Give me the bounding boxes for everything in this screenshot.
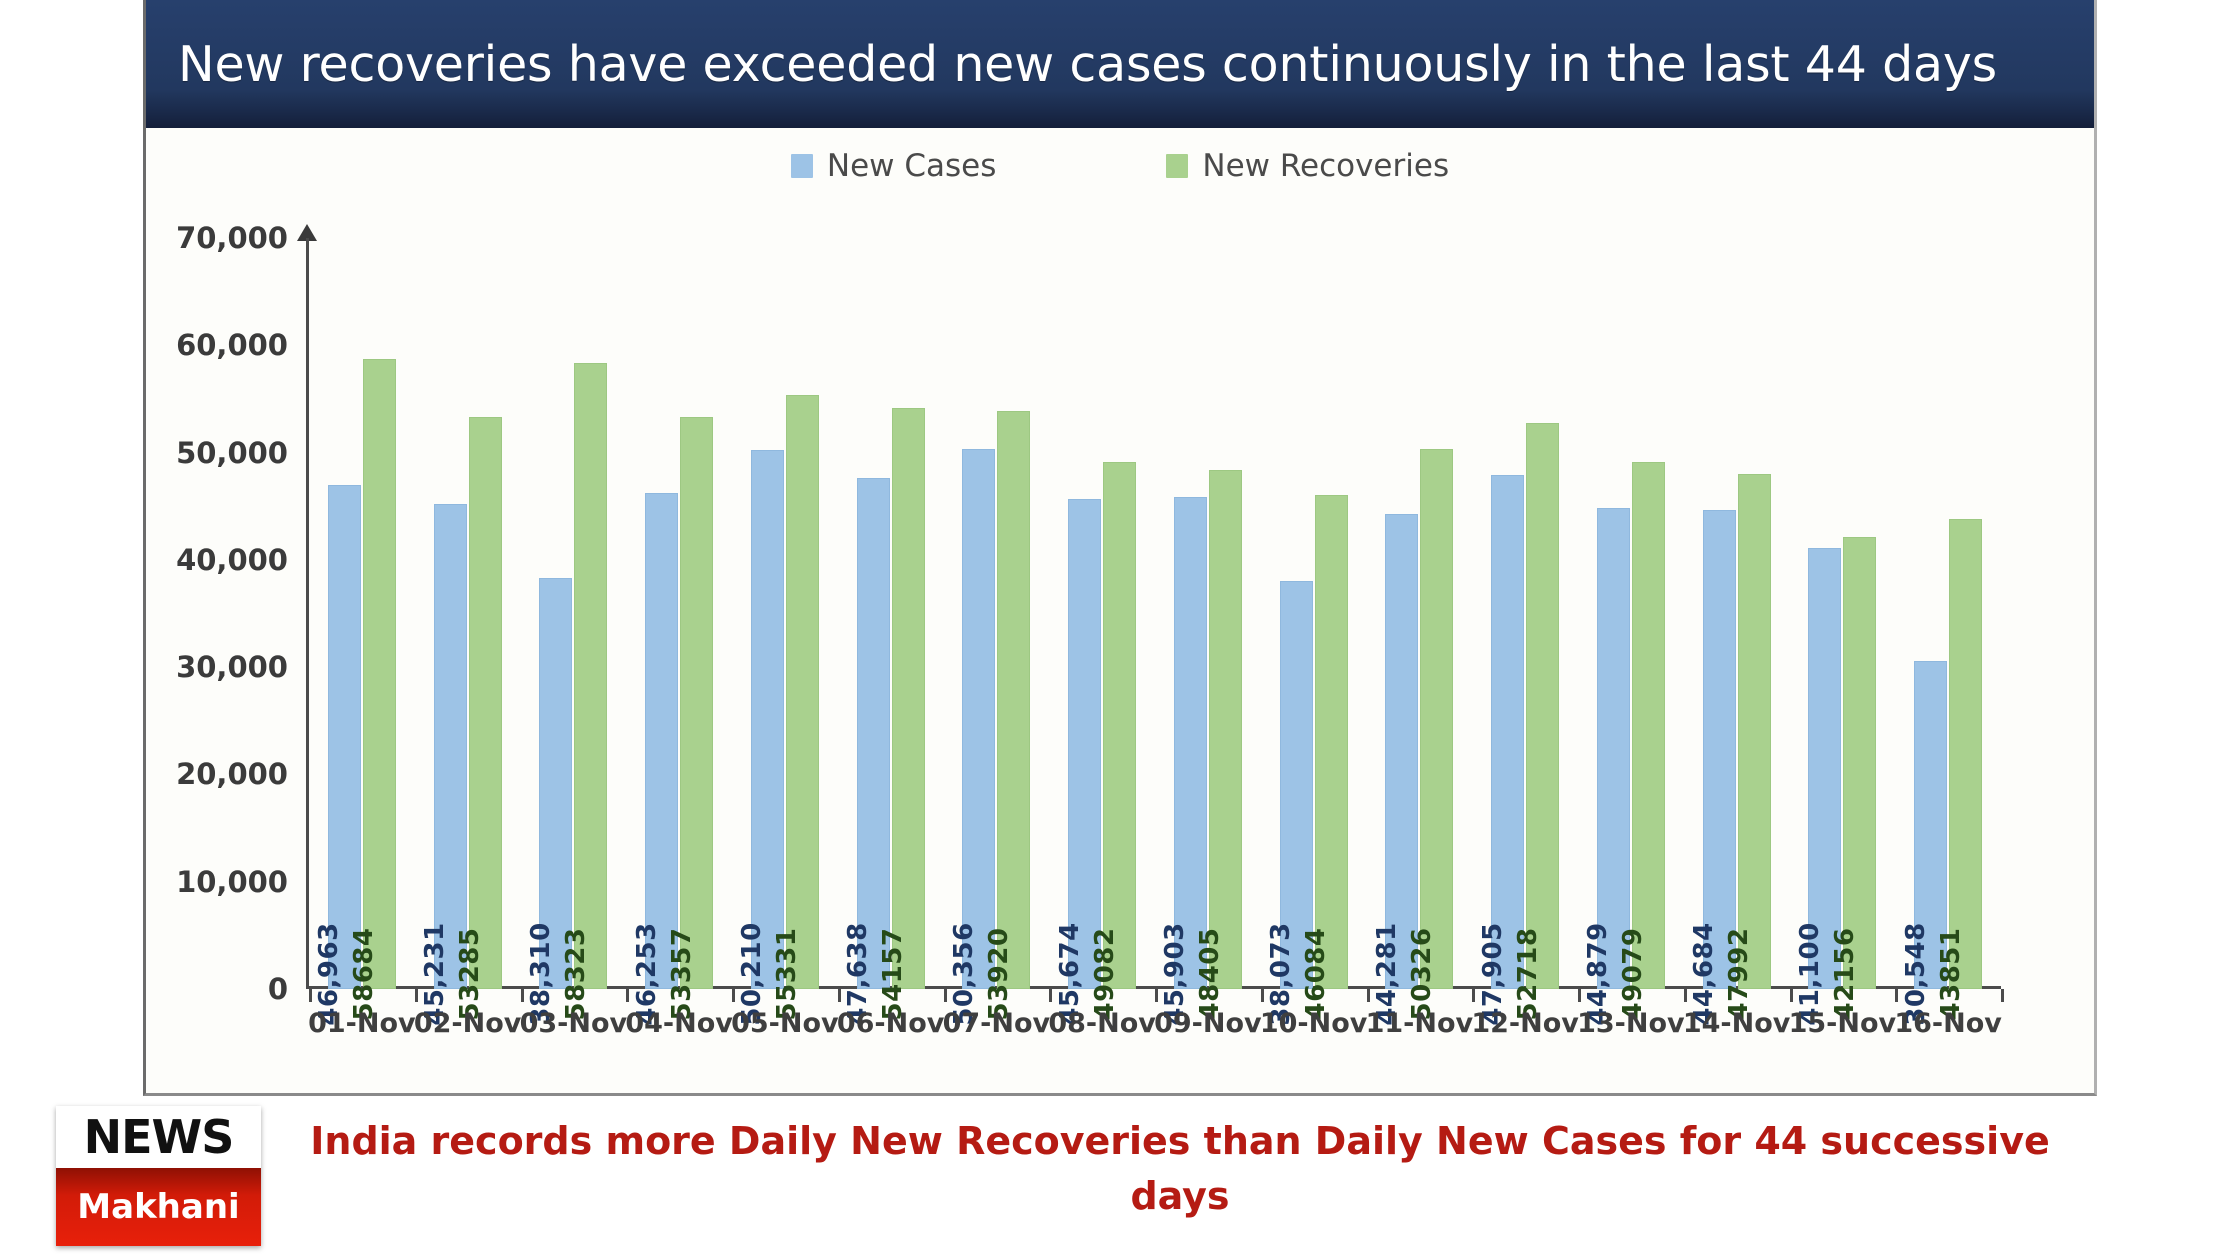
x-axis-tick-label: 12-Nov [1471, 1008, 1579, 1039]
bar-new-cases[interactable]: 44,281 [1385, 514, 1418, 989]
chart-title-banner: New recoveries have exceeded new cases c… [146, 0, 2094, 128]
bar-group: 50,35653920 [962, 238, 1030, 989]
bar-value-label: 50326 [1407, 928, 1437, 1021]
bar-new-cases[interactable]: 50,210 [751, 450, 784, 989]
bar-group: 47,63854157 [857, 238, 925, 989]
bar-value-label: 53285 [455, 928, 485, 1021]
bar-new-cases[interactable]: 44,879 [1597, 508, 1630, 989]
x-axis-tick-label: 01-Nov [308, 1008, 416, 1039]
logo-makhani-text: Makhani [77, 1187, 239, 1227]
news-makhani-logo: NEWS Makhani [56, 1106, 261, 1246]
bar-new-recoveries[interactable]: 42156 [1843, 537, 1876, 989]
bar-group: 30,54843851 [1914, 238, 1982, 989]
bar-new-recoveries[interactable]: 43851 [1949, 519, 1982, 989]
bar-value-label: 49079 [1618, 928, 1648, 1021]
x-axis-tick-mark [1472, 989, 1475, 1002]
x-axis-tick-label: 07-Nov [943, 1008, 1051, 1039]
x-axis-tick-labels: 01-Nov02-Nov03-Nov04-Nov05-Nov06-Nov07-N… [309, 1008, 2001, 1058]
bar-value-label: 46084 [1301, 928, 1331, 1021]
y-axis-tick-label: 20,000 [156, 757, 306, 791]
logo-bottom: Makhani [56, 1168, 261, 1246]
bar-new-recoveries[interactable]: 58323 [574, 363, 607, 989]
chart-card: New recoveries have exceeded new cases c… [143, 0, 2097, 1096]
bar-new-recoveries[interactable]: 46084 [1315, 495, 1348, 989]
legend-item-new-cases[interactable]: New Cases [791, 148, 997, 184]
bar-group: 44,68447992 [1703, 238, 1771, 989]
bar-new-recoveries[interactable]: 55331 [786, 395, 819, 989]
x-axis-tick-label: 05-Nov [731, 1008, 839, 1039]
y-axis-tick-label: 70,000 [156, 221, 306, 255]
bar-new-cases[interactable]: 44,684 [1703, 510, 1736, 989]
bar-group: 46,96358684 [328, 238, 396, 989]
x-axis-tick-label: 09-Nov [1154, 1008, 1262, 1039]
legend-swatch-icon [791, 154, 813, 178]
y-axis-tick-label: 0 [156, 972, 306, 1006]
x-axis-tick-mark [2001, 989, 2004, 1002]
x-axis-tick-label: 02-Nov [414, 1008, 522, 1039]
bar-new-recoveries[interactable]: 53920 [997, 411, 1030, 989]
y-axis-tick-label: 40,000 [156, 543, 306, 577]
chart-legend: New CasesNew Recoveries [146, 148, 2094, 184]
bar-value-label: 58684 [349, 928, 379, 1021]
bar-group: 38,31058323 [539, 238, 607, 989]
footer-caption: India records more Daily New Recoveries … [300, 1114, 2060, 1224]
bar-value-label: 47992 [1724, 928, 1754, 1021]
bar-new-recoveries[interactable]: 49079 [1632, 462, 1665, 989]
legend-swatch-icon [1166, 154, 1188, 178]
bar-value-label: 53357 [667, 928, 697, 1021]
bar-new-cases[interactable]: 45,674 [1068, 499, 1101, 989]
x-axis-tick-label: 10-Nov [1260, 1008, 1368, 1039]
y-axis-tick-labels: 010,00020,00030,00040,00050,00060,00070,… [146, 128, 306, 1093]
bar-new-recoveries[interactable]: 54157 [892, 408, 925, 989]
y-axis-tick-label: 30,000 [156, 650, 306, 684]
bar-new-recoveries[interactable]: 50326 [1420, 449, 1453, 989]
logo-news-text: NEWS [84, 1110, 234, 1164]
x-axis-tick-mark [944, 989, 947, 1002]
bar-value-label: 52718 [1513, 928, 1543, 1021]
bar-group: 41,10042156 [1808, 238, 1876, 989]
x-axis-tick-mark [626, 989, 629, 1002]
bar-group: 45,23153285 [434, 238, 502, 989]
bar-value-label: 42156 [1830, 928, 1860, 1021]
bar-value-label: 53920 [984, 928, 1014, 1021]
x-axis-tick-mark [1155, 989, 1158, 1002]
legend-item-label: New Cases [827, 148, 997, 184]
x-axis-tick-mark [1684, 989, 1687, 1002]
x-axis-tick-label: 15-Nov [1789, 1008, 1897, 1039]
bar-group: 46,25353357 [645, 238, 713, 989]
bar-new-recoveries[interactable]: 58684 [363, 359, 396, 989]
bar-new-cases[interactable]: 45,231 [434, 504, 467, 989]
bar-group: 44,87949079 [1597, 238, 1665, 989]
x-axis-tick-mark [838, 989, 841, 1002]
x-axis-tick-mark [1261, 989, 1264, 1002]
bar-value-label: 58323 [561, 928, 591, 1021]
bar-new-cases[interactable]: 41,100 [1808, 548, 1841, 989]
bar-value-label: 43851 [1936, 928, 1966, 1021]
x-axis-tick-mark [1578, 989, 1581, 1002]
bar-new-cases[interactable]: 47,905 [1491, 475, 1524, 989]
bars-layer: 46,9635868445,2315328538,3105832346,2535… [309, 238, 2001, 989]
bar-group: 50,21055331 [751, 238, 819, 989]
logo-top: NEWS [56, 1106, 261, 1168]
bar-group: 44,28150326 [1385, 238, 1453, 989]
page-title: New recoveries have exceeded new cases c… [178, 36, 1997, 93]
plot-region: New CasesNew Recoveries 010,00020,00030,… [146, 128, 2094, 1093]
x-axis-tick-label: 16-Nov [1894, 1008, 2002, 1039]
x-axis-tick-mark [521, 989, 524, 1002]
x-axis-tick-label: 13-Nov [1577, 1008, 1685, 1039]
footer: NEWS Makhani India records more Daily Ne… [0, 1096, 2240, 1260]
bar-new-cases[interactable]: 45,903 [1174, 497, 1207, 989]
legend-item-new-recoveries[interactable]: New Recoveries [1166, 148, 1449, 184]
y-axis-tick-label: 50,000 [156, 436, 306, 470]
bar-value-label: 48405 [1195, 928, 1225, 1021]
x-axis-tick-mark [1367, 989, 1370, 1002]
x-axis-tick-mark [1049, 989, 1052, 1002]
bar-value-label: 55331 [772, 928, 802, 1021]
x-axis-tick-label: 08-Nov [1048, 1008, 1156, 1039]
y-axis-tick-label: 60,000 [156, 328, 306, 362]
bar-value-label: 54157 [878, 928, 908, 1021]
bar-group: 47,90552718 [1491, 238, 1559, 989]
bar-new-cases[interactable]: 47,638 [857, 478, 890, 989]
bar-new-recoveries[interactable]: 53357 [680, 417, 713, 989]
x-axis-tick-mark [1790, 989, 1793, 1002]
x-axis-tick-label: 04-Nov [625, 1008, 733, 1039]
x-axis-tick-mark [415, 989, 418, 1002]
bar-new-cases[interactable]: 46,963 [328, 485, 361, 989]
x-axis-tick-label: 06-Nov [837, 1008, 945, 1039]
x-axis-tick-label: 14-Nov [1683, 1008, 1791, 1039]
x-axis-tick-mark [732, 989, 735, 1002]
y-axis-tick-label: 10,000 [156, 865, 306, 899]
bar-new-recoveries[interactable]: 47992 [1738, 474, 1771, 989]
x-axis-tick-mark [1895, 989, 1898, 1002]
bar-group: 45,67449082 [1068, 238, 1136, 989]
x-axis-tick-label: 11-Nov [1366, 1008, 1474, 1039]
bar-new-recoveries[interactable]: 48405 [1209, 470, 1242, 989]
bar-new-recoveries[interactable]: 49082 [1103, 462, 1136, 989]
x-axis-tick-mark [309, 989, 312, 1002]
x-axis-tick-label: 03-Nov [520, 1008, 628, 1039]
bar-new-cases[interactable]: 50,356 [962, 449, 995, 989]
bar-new-cases[interactable]: 46,253 [645, 493, 678, 989]
bar-new-recoveries[interactable]: 52718 [1526, 423, 1559, 989]
bar-group: 45,90348405 [1174, 238, 1242, 989]
bar-new-recoveries[interactable]: 53285 [469, 417, 502, 989]
legend-item-label: New Recoveries [1202, 148, 1449, 184]
bar-value-label: 49082 [1090, 928, 1120, 1021]
bar-group: 38,07346084 [1280, 238, 1348, 989]
